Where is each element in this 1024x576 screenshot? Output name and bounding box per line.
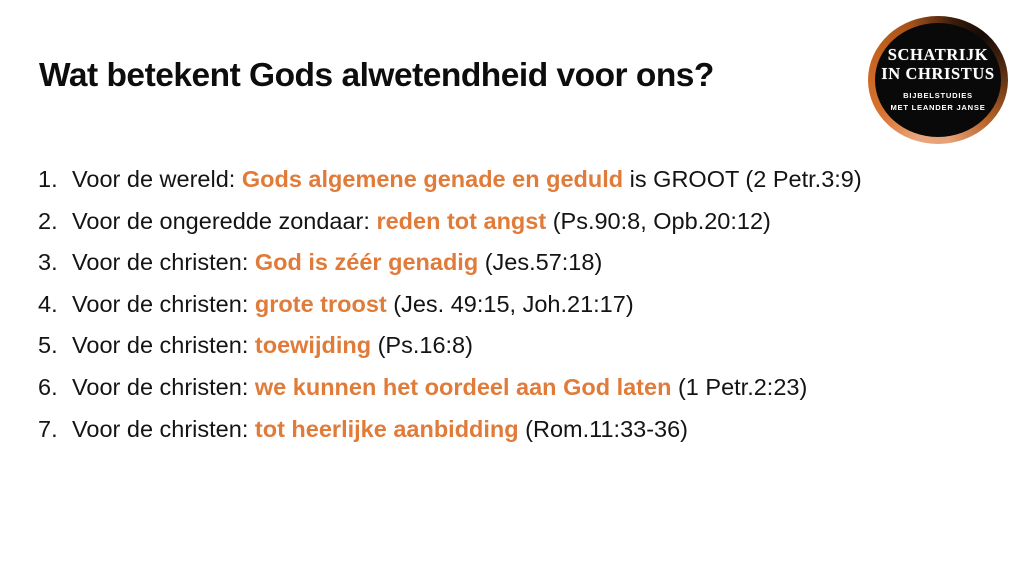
list-item: 3. Voor de christen: God is zéér genadig… bbox=[38, 251, 998, 293]
list-item-number: 7. bbox=[38, 418, 72, 442]
list-item-highlight: Gods algemene genade en geduld bbox=[242, 166, 623, 192]
list-item-number: 3. bbox=[38, 251, 72, 275]
list-item-tail: (Rom.11:33-36) bbox=[519, 416, 688, 442]
list-item-tail: is GROOT (2 Petr.3:9) bbox=[623, 166, 862, 192]
logo-title-line2: IN CHRISTUS bbox=[881, 65, 994, 83]
brand-logo: SCHATRIJK IN CHRISTUS BIJBELSTUDIES MET … bbox=[868, 16, 1008, 144]
list-item-tail: (Ps.90:8, Opb.20:12) bbox=[546, 208, 771, 234]
list-item-highlight: tot heerlijke aanbidding bbox=[255, 416, 519, 442]
list-item-lead: Voor de christen: bbox=[72, 249, 255, 275]
list-item-text: Voor de christen: we kunnen het oordeel … bbox=[72, 376, 807, 400]
logo-subtitle: BIJBELSTUDIES MET LEANDER JANSE bbox=[890, 90, 985, 114]
list-item: 1. Voor de wereld: Gods algemene genade … bbox=[38, 168, 998, 210]
presentation-slide: SCHATRIJK IN CHRISTUS BIJBELSTUDIES MET … bbox=[0, 0, 1024, 576]
list-item-lead: Voor de christen: bbox=[72, 332, 255, 358]
list-item-lead: Voor de christen: bbox=[72, 374, 255, 400]
list-item-highlight: we kunnen het oordeel aan God laten bbox=[255, 374, 672, 400]
list-item-tail: (Jes.57:18) bbox=[478, 249, 602, 275]
list-item-text: Voor de christen: toewijding (Ps.16:8) bbox=[72, 334, 473, 358]
points-list: 1. Voor de wereld: Gods algemene genade … bbox=[38, 168, 998, 459]
list-item: 2. Voor de ongeredde zondaar: reden tot … bbox=[38, 210, 998, 252]
logo-title-line1: SCHATRIJK bbox=[888, 45, 988, 64]
logo-subtitle-line2: MET LEANDER JANSE bbox=[890, 102, 985, 114]
logo-subtitle-line1: BIJBELSTUDIES bbox=[890, 90, 985, 102]
list-item-number: 1. bbox=[38, 168, 72, 192]
list-item-tail: (Ps.16:8) bbox=[371, 332, 473, 358]
list-item-text: Voor de christen: God is zéér genadig (J… bbox=[72, 251, 602, 275]
list-item: 6. Voor de christen: we kunnen het oorde… bbox=[38, 376, 998, 418]
list-item-lead: Voor de ongeredde zondaar: bbox=[72, 208, 376, 234]
logo-disc: SCHATRIJK IN CHRISTUS BIJBELSTUDIES MET … bbox=[875, 23, 1001, 137]
slide-title: Wat betekent Gods alwetendheid voor ons? bbox=[39, 57, 839, 96]
logo-title: SCHATRIJK IN CHRISTUS bbox=[881, 46, 994, 83]
list-item-text: Voor de ongeredde zondaar: reden tot ang… bbox=[72, 210, 771, 234]
list-item-highlight: toewijding bbox=[255, 332, 371, 358]
list-item-text: Voor de christen: tot heerlijke aanbiddi… bbox=[72, 418, 688, 442]
list-item-number: 5. bbox=[38, 334, 72, 358]
list-item: 4. Voor de christen: grote troost (Jes. … bbox=[38, 293, 998, 335]
list-item-text: Voor de wereld: Gods algemene genade en … bbox=[72, 168, 862, 192]
list-item: 5. Voor de christen: toewijding (Ps.16:8… bbox=[38, 334, 998, 376]
list-item-highlight: God is zéér genadig bbox=[255, 249, 478, 275]
list-item-tail: (Jes. 49:15, Joh.21:17) bbox=[387, 291, 634, 317]
list-item-lead: Voor de wereld: bbox=[72, 166, 242, 192]
list-item-highlight: reden tot angst bbox=[376, 208, 546, 234]
list-item-highlight: grote troost bbox=[255, 291, 387, 317]
list-item-number: 2. bbox=[38, 210, 72, 234]
list-item: 7. Voor de christen: tot heerlijke aanbi… bbox=[38, 418, 998, 460]
list-item-lead: Voor de christen: bbox=[72, 291, 255, 317]
list-item-tail: (1 Petr.2:23) bbox=[671, 374, 807, 400]
list-item-text: Voor de christen: grote troost (Jes. 49:… bbox=[72, 293, 634, 317]
list-item-number: 6. bbox=[38, 376, 72, 400]
list-item-lead: Voor de christen: bbox=[72, 416, 255, 442]
list-item-number: 4. bbox=[38, 293, 72, 317]
